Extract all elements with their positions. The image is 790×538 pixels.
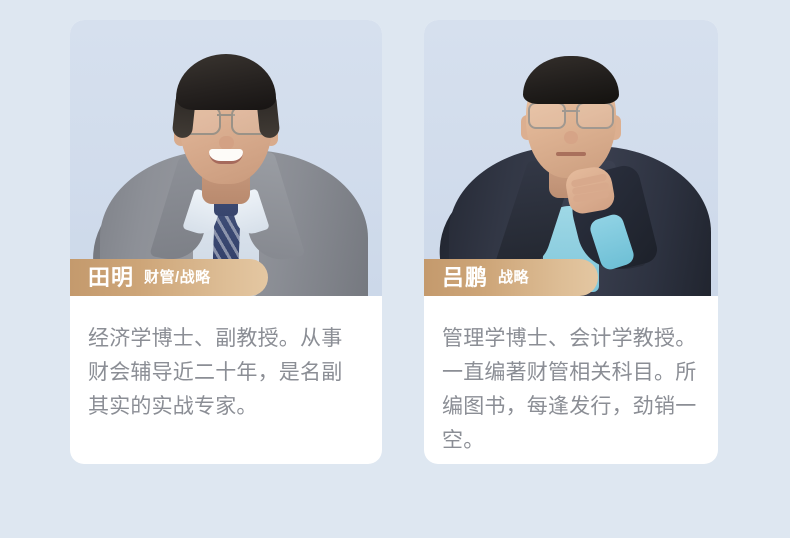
portrait-illustration-lv-peng: [424, 20, 718, 296]
teacher-photo-lv-peng: 吕鹏 战略: [424, 20, 718, 296]
teacher-name-badge: 田明 财管/战略: [70, 259, 268, 296]
teacher-description-block: 经济学博士、副教授。从事财会辅导近二十年，是名副其实的实战专家。: [70, 296, 382, 424]
teacher-role: 财管/战略: [144, 270, 211, 285]
portrait-illustration-tian-ming: [70, 20, 382, 296]
portrait-mouth: [209, 149, 243, 164]
portrait-hair: [176, 54, 276, 110]
teacher-name-badge: 吕鹏 战略: [424, 259, 598, 296]
portrait-hair: [523, 56, 619, 104]
teacher-description: 管理学博士、会计学教授。一直编著财管相关科目。所编图书，每逢发行，劲销一空。: [442, 322, 698, 458]
teacher-photo-tian-ming: 田明 财管/战略: [70, 20, 382, 296]
teacher-name: 田明: [88, 267, 134, 289]
teacher-description-block: 管理学博士、会计学教授。一直编著财管相关科目。所编图书，每逢发行，劲销一空。: [424, 296, 718, 458]
teacher-name: 吕鹏: [442, 267, 488, 289]
teacher-cards-section: 田明 财管/战略 经济学博士、副教授。从事财会辅导近二十年，是名副其实的实战专家…: [0, 0, 790, 538]
glasses-lens-left: [528, 102, 566, 129]
teacher-role: 战略: [498, 270, 529, 285]
teacher-card-tian-ming[interactable]: 田明 财管/战略 经济学博士、副教授。从事财会辅导近二十年，是名副其实的实战专家…: [70, 20, 382, 464]
portrait-mouth: [556, 152, 586, 156]
glasses-lens-right: [576, 102, 614, 129]
teacher-description: 经济学博士、副教授。从事财会辅导近二十年，是名副其实的实战专家。: [88, 322, 362, 424]
portrait-nose: [564, 131, 578, 144]
portrait-glasses: [528, 102, 614, 126]
portrait-nose: [219, 136, 234, 150]
teacher-card-lv-peng[interactable]: 吕鹏 战略 管理学博士、会计学教授。一直编著财管相关科目。所编图书，每逢发行，劲…: [424, 20, 718, 464]
